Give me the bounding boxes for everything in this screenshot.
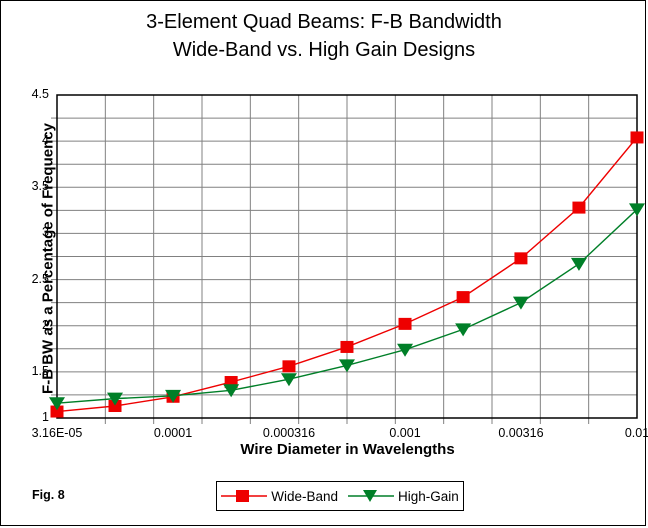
legend-swatch-wide-band bbox=[221, 488, 267, 504]
legend-swatch-high-gain bbox=[348, 488, 394, 504]
x-tick-label: 0.001 bbox=[355, 426, 455, 440]
legend-item-wide-band: Wide-Band bbox=[221, 488, 338, 504]
data-point-marker bbox=[339, 359, 355, 372]
data-point-marker bbox=[399, 318, 412, 330]
x-tick-label: 0.000316 bbox=[239, 426, 339, 440]
data-point-marker bbox=[514, 252, 527, 264]
x-tick-label: 0.00316 bbox=[471, 426, 571, 440]
data-point-marker bbox=[282, 360, 295, 372]
y-axis-title: F-B BW as a Percentage of Frequency bbox=[40, 94, 57, 424]
data-point-marker bbox=[572, 202, 585, 214]
x-tick-label: 0.0001 bbox=[123, 426, 223, 440]
data-point-marker bbox=[457, 291, 470, 303]
x-axis-title: Wire Diameter in Wavelengths bbox=[57, 441, 638, 458]
x-tick-label: 0.01 bbox=[587, 426, 648, 440]
data-point-marker bbox=[397, 344, 413, 357]
data-point-marker bbox=[455, 323, 471, 336]
data-point-marker bbox=[571, 258, 587, 271]
data-point-marker bbox=[631, 131, 644, 143]
legend-label-wide-band: Wide-Band bbox=[271, 489, 338, 504]
legend-item-high-gain: High-Gain bbox=[348, 488, 459, 504]
data-point-marker bbox=[340, 341, 353, 353]
legend-label-high-gain: High-Gain bbox=[398, 489, 459, 504]
x-tick-label: 3.16E-05 bbox=[7, 426, 107, 440]
chart-legend: Wide-Band High-Gain bbox=[216, 481, 464, 511]
figure-caption: Fig. 8 bbox=[32, 488, 65, 502]
